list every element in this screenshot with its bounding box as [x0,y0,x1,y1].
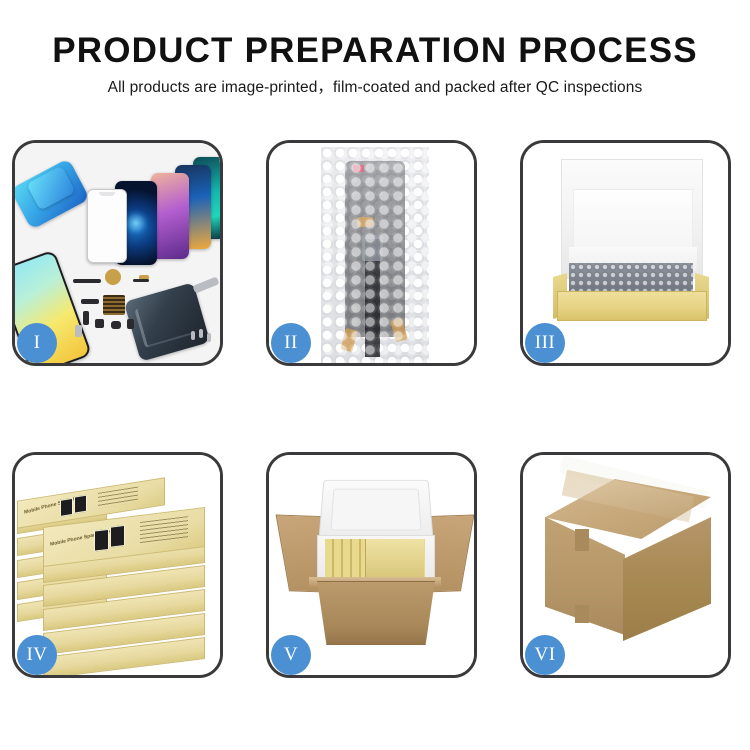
carton-handle-tab-top [575,529,589,551]
lcd-connector [362,235,383,261]
camera-module-part [127,319,134,329]
small-flex-part [83,311,89,325]
carton-handle-tab-bottom [575,605,589,623]
grey-bubble-wrap-content [569,263,693,293]
carton-front-wall [309,581,443,645]
kapton-tape-top [357,217,373,227]
process-step-4: Mobile Phone Spare Parts Mobile Pho [12,452,223,678]
flex-cable-part [133,279,149,282]
chip-part [95,319,104,328]
process-step-1: I [12,140,223,366]
process-step-grid: I II [12,140,738,672]
yellow-boxes-row-stacked [365,539,424,577]
speaker-part [111,321,121,329]
screw-part-a [191,331,195,340]
screw-part-b [199,329,203,338]
step-badge-5: V [271,635,311,675]
step-badge-3: III [525,323,565,363]
screw-part-c [207,333,211,342]
connector-strip-part [81,299,99,304]
box-window-right [110,525,125,548]
step-badge-4: IV [17,635,57,675]
product-preparation-infographic: PRODUCT PREPARATION PROCESS All products… [0,0,750,750]
page-subtitle: All products are image-printed，film-coat… [0,78,750,98]
box-window-left [94,529,109,552]
phone-logic-board [124,282,210,361]
white-frame-screen [87,189,127,263]
sim-tray-part [75,325,82,337]
header: PRODUCT PREPARATION PROCESS All products… [0,30,750,98]
process-step-6: VI [520,452,731,678]
process-step-5: V [266,452,477,678]
gold-coil-part [105,269,121,285]
tweezers-tool [192,276,219,293]
process-step-2: II [266,140,477,366]
step-badge-6: VI [525,635,565,675]
pink-qc-label [353,165,364,172]
page-title: PRODUCT PREPARATION PROCESS [0,30,750,72]
step-badge-1: I [17,323,57,363]
step-badge-2: II [271,323,311,363]
screw-tray-part [103,295,125,315]
box-window-left [60,498,73,517]
foam-box-lid [318,480,433,541]
box-front-wall [557,291,707,321]
box-window-right [74,495,87,514]
process-step-3: III [520,140,731,366]
earpiece-mesh-part [73,279,101,283]
